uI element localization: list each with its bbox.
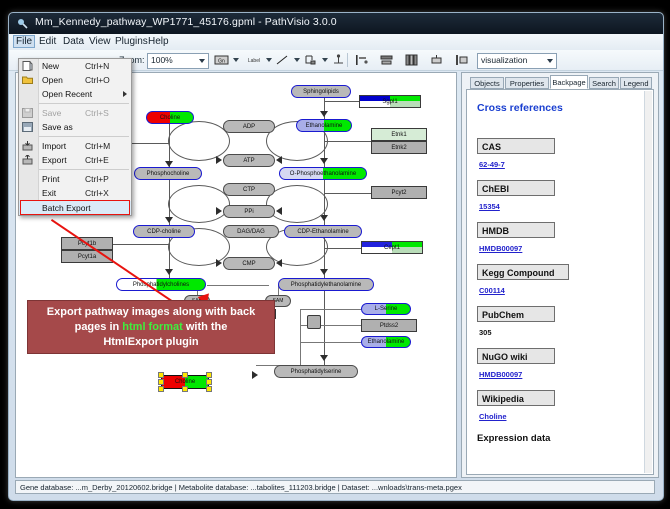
panel-tab-strip: Objects Properties Backpage Search Legen… — [462, 75, 658, 89]
arrow-icon — [165, 217, 173, 223]
tab-backpage[interactable]: Backpage — [550, 75, 588, 89]
import-icon — [22, 141, 33, 151]
backpage-content: Cross references CAS 62-49-7 ChEBI 15354… — [466, 89, 654, 475]
interaction-dropdown-icon[interactable] — [322, 58, 328, 62]
menu-edit[interactable]: Edit — [36, 36, 59, 47]
node-o-phosphoethanolamine[interactable]: O-Phosphoethanolamine — [279, 167, 367, 180]
open-folder-icon — [22, 75, 33, 85]
panel-scrollbar[interactable] — [644, 91, 652, 473]
application-window: Mm_Kennedy_pathway_WP1771_45176.gpml - P… — [8, 12, 664, 501]
xref-link-nugo[interactable]: HMDB00097 — [479, 370, 522, 379]
node-cmp[interactable]: CMP — [223, 257, 275, 270]
node-ppi[interactable]: PPi — [223, 205, 275, 218]
label-icon[interactable]: Label — [243, 53, 265, 67]
resize-handle[interactable] — [206, 379, 212, 385]
node-adp[interactable]: ADP — [223, 120, 275, 133]
menu-item-open-recent[interactable]: Open Recent — [19, 87, 131, 101]
anchor-icon[interactable] — [331, 53, 346, 67]
node-etnk2[interactable]: Etnk2 — [371, 141, 427, 154]
node-pcyt2[interactable]: Pcyt2 — [371, 186, 427, 199]
resize-handle[interactable] — [158, 379, 164, 385]
chevron-down-icon — [199, 59, 205, 63]
cross-references-title: Cross references — [477, 102, 563, 114]
resize-handle[interactable] — [182, 386, 188, 392]
arrow-icon — [320, 269, 328, 275]
resize-handle[interactable] — [158, 386, 164, 392]
menu-item-open-accel: Ctrl+O — [85, 75, 110, 85]
menu-item-print-accel: Ctrl+P — [85, 174, 109, 184]
menu-item-exit[interactable]: Exit Ctrl+X — [19, 186, 131, 200]
interaction-icon[interactable] — [303, 53, 318, 67]
resize-handle[interactable] — [206, 372, 212, 378]
order-icon[interactable] — [454, 53, 469, 67]
annotation-callout: Export pathway images along with back pa… — [27, 300, 275, 354]
edge-lserine-connector — [300, 309, 362, 310]
arrow-icon — [320, 158, 328, 164]
callout-line-1: Export pathway images along with back — [34, 305, 268, 320]
expression-data-header: Expression data — [477, 433, 550, 444]
menu-item-export[interactable]: Export Ctrl+E — [19, 153, 131, 167]
edge-methylation — [207, 285, 269, 286]
xref-link-hmdb[interactable]: HMDB00097 — [479, 244, 522, 253]
menu-item-new[interactable]: New Ctrl+N — [19, 59, 131, 73]
resize-handle[interactable] — [182, 372, 188, 378]
loop-adp-atp — [168, 121, 230, 161]
arrow-icon — [320, 355, 328, 361]
menu-item-new-label: New — [42, 61, 59, 71]
edge-ethanolamine2-connector — [300, 342, 362, 343]
xref-header-hmdb: HMDB — [477, 222, 555, 238]
tab-properties[interactable]: Properties — [505, 77, 549, 89]
arrow-icon — [276, 259, 282, 267]
callout-line2-pre: pages in — [75, 321, 123, 333]
xref-header-cas: CAS — [477, 138, 555, 154]
resize-handle[interactable] — [158, 372, 164, 378]
node-etnk1[interactable]: Etnk1 — [371, 128, 427, 141]
callout-line-3: HtmlExport plugin — [34, 335, 268, 350]
xref-link-cas[interactable]: 62-49-7 — [479, 160, 505, 169]
menu-item-save: Save Ctrl+S — [19, 106, 131, 120]
node-sgpl1[interactable]: Sgpl1 — [359, 95, 421, 108]
menu-item-exit-label: Exit — [42, 188, 56, 198]
visualization-combobox[interactable]: visualization — [477, 53, 557, 69]
tab-search[interactable]: Search — [589, 77, 619, 89]
group-icon[interactable] — [429, 53, 444, 67]
edge-etnk-connector — [325, 141, 373, 142]
node-sphingolipids[interactable]: Sphingolipids — [291, 85, 351, 98]
stack-icon[interactable] — [404, 53, 419, 67]
menu-item-new-accel: Ctrl+N — [85, 61, 109, 71]
side-panel: Objects Properties Backpage Search Legen… — [461, 72, 659, 478]
pathvisio-icon — [17, 18, 29, 30]
datanode-icon[interactable]: Gn — [214, 53, 229, 67]
node-sgpl1-label: Sgpl1 — [382, 99, 397, 105]
xref-header-pubchem: PubChem — [477, 306, 555, 322]
datanode-dropdown-icon[interactable] — [233, 58, 239, 62]
xref-link-kegg[interactable]: C00114 — [479, 286, 505, 295]
node-choline-top[interactable]: Choline — [146, 111, 194, 124]
xref-header-kegg: Kegg Compound — [477, 264, 569, 280]
menu-item-print[interactable]: Print Ctrl+P — [19, 172, 131, 186]
xref-value-pubchem: 305 — [479, 328, 492, 337]
status-bar: Gene database: ...m_Derby_20120602.bridg… — [15, 480, 655, 494]
edge-pcyt2-connector — [325, 193, 373, 194]
menu-item-exit-accel: Ctrl+X — [85, 188, 109, 198]
menu-bar: File Edit Data View Plugins Help — [9, 34, 663, 51]
arrow-icon — [320, 111, 328, 117]
menu-item-export-label: Export — [42, 155, 67, 165]
edge-ptdethanolamine-ptdserine — [324, 291, 325, 365]
submenu-chevron-icon — [123, 91, 127, 97]
align-center-icon[interactable] — [379, 53, 394, 67]
menu-item-save-as[interactable]: Save as — [19, 120, 131, 134]
arrow-icon — [216, 156, 222, 164]
menu-item-batch-export[interactable]: Batch Export — [19, 201, 131, 215]
arrow-icon — [276, 207, 282, 215]
arrow-icon — [216, 259, 222, 267]
arrow-icon — [252, 371, 258, 379]
xref-link-wikipedia[interactable]: Choline — [479, 412, 507, 421]
callout-line-2: pages in html format with the — [34, 320, 268, 335]
xref-header-nugo: NuGO wiki — [477, 348, 555, 364]
node-ethanolamine-2[interactable]: Ethanolamine — [361, 336, 411, 348]
arrow-icon — [276, 156, 282, 164]
chevron-down-icon — [547, 59, 553, 63]
node-ethanolamine-1[interactable]: Ethanolamine — [296, 119, 352, 132]
save-disk-icon — [22, 108, 33, 118]
menu-item-save-as-label: Save as — [42, 122, 73, 132]
screenshot-root: Mm_Kennedy_pathway_WP1771_45176.gpml - P… — [0, 0, 670, 509]
menu-data[interactable]: Data — [60, 36, 87, 47]
zoom-combobox[interactable]: 100% — [147, 53, 209, 69]
line-icon[interactable] — [275, 53, 290, 67]
edge-serine-branch — [300, 309, 301, 365]
node-dag-dag[interactable]: DAG/DAG — [223, 225, 279, 238]
batch-export-highlight-box — [20, 200, 130, 215]
node-cdp-choline[interactable]: CDP-choline — [133, 225, 195, 238]
node-phosphocholine[interactable]: Phosphocholine — [134, 167, 202, 180]
node-cept1[interactable]: Cept1 — [361, 241, 423, 254]
edge-cept1-connector — [325, 248, 363, 249]
align-left-icon[interactable] — [354, 53, 369, 67]
line-dropdown-icon[interactable] — [294, 58, 300, 62]
menu-item-print-label: Print — [42, 174, 59, 184]
menu-file[interactable]: File — [13, 35, 35, 48]
svg-text:Gn: Gn — [218, 59, 225, 65]
anchor-box[interactable] — [307, 315, 321, 329]
svg-text:Label: Label — [248, 58, 260, 64]
tab-legend[interactable]: Legend — [620, 77, 652, 89]
menu-item-import-accel: Ctrl+M — [85, 141, 110, 151]
xref-header-wikipedia: Wikipedia — [477, 390, 555, 406]
menu-help[interactable]: Help — [145, 36, 172, 47]
xref-header-chebi: ChEBI — [477, 180, 555, 196]
callout-line2-post: with the — [183, 321, 228, 333]
menu-item-import-label: Import — [42, 141, 66, 151]
node-atp[interactable]: ATP — [223, 154, 275, 167]
node-phosphatidylcholines[interactable]: Phosphatidylcholines — [116, 278, 206, 291]
loop-ppi-right — [266, 185, 328, 223]
title-bar: Mm_Kennedy_pathway_WP1771_45176.gpml - P… — [9, 13, 663, 34]
arrow-icon — [165, 269, 173, 275]
edge-pcyt1-connector — [113, 244, 170, 245]
menu-item-open-label: Open — [42, 75, 63, 85]
resize-handle[interactable] — [206, 386, 212, 392]
arrow-icon — [216, 207, 222, 215]
export-icon — [22, 155, 33, 165]
menu-item-save-accel: Ctrl+S — [85, 108, 109, 118]
node-ptdss2[interactable]: Ptdss2 — [361, 319, 417, 332]
node-cdp-ethanolamine[interactable]: CDP-Ethanolamine — [284, 225, 362, 238]
node-l-serine[interactable]: L-Serine — [361, 303, 411, 315]
window-title: Mm_Kennedy_pathway_WP1771_45176.gpml - P… — [35, 16, 337, 28]
node-phosphatidylethanolamine[interactable]: Phosphatidylethanolamine — [278, 278, 374, 291]
visualization-value: visualization — [481, 55, 527, 65]
node-ctp[interactable]: CTP — [223, 183, 275, 196]
arrow-icon — [320, 215, 328, 221]
menu-view[interactable]: View — [86, 36, 114, 47]
edge-sgpl1-connector — [325, 101, 361, 102]
new-file-icon — [22, 61, 33, 71]
menu-item-open[interactable]: Open Ctrl+O — [19, 73, 131, 87]
save-as-icon — [22, 122, 33, 132]
zoom-value: 100% — [151, 55, 173, 65]
tab-objects[interactable]: Objects — [470, 77, 504, 89]
node-cept1-label: Cept1 — [384, 245, 400, 251]
menu-item-open-recent-label: Open Recent — [42, 89, 92, 99]
loop-ctp-ppi — [168, 185, 230, 223]
menu-item-save-label: Save — [42, 108, 61, 118]
toolbar-separator — [347, 53, 348, 67]
file-menu-popup[interactable]: New Ctrl+N Open Ctrl+O Open Recent Save … — [18, 58, 132, 216]
callout-line2-highlight: html format — [122, 321, 183, 333]
menu-item-import[interactable]: Import Ctrl+M — [19, 139, 131, 153]
menu-item-export-accel: Ctrl+E — [85, 155, 109, 165]
xref-link-chebi[interactable]: 15354 — [479, 202, 500, 211]
node-phosphatidylserine[interactable]: Phosphatidylserine — [274, 365, 358, 378]
label-dropdown-icon[interactable] — [266, 58, 272, 62]
